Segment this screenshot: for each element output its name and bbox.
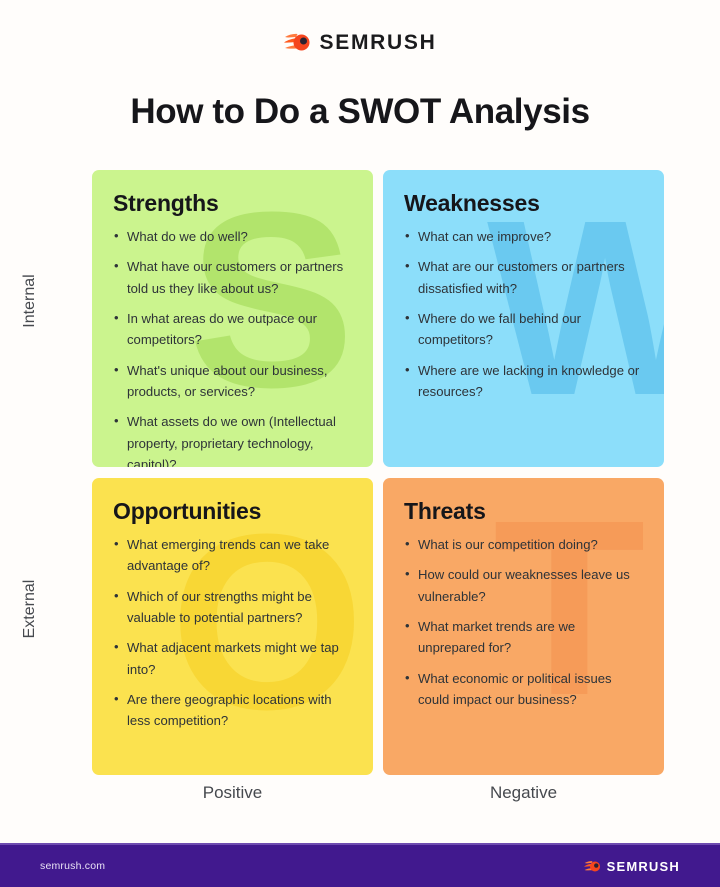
quadrant-list-opportunities: What emerging trends can we take advanta… xyxy=(113,534,351,732)
axis-label-external: External xyxy=(21,579,39,639)
swot-matrix: S Strengths What do we do well? What hav… xyxy=(92,170,664,775)
quadrant-strengths: S Strengths What do we do well? What hav… xyxy=(92,170,373,467)
semrush-wordmark: SEMRUSH xyxy=(320,32,437,53)
list-item: Which of our strengths might be valuable… xyxy=(113,586,351,629)
list-item: In what areas do we outpace our competit… xyxy=(113,308,351,351)
footer-website-url[interactable]: semrush.com xyxy=(40,860,105,872)
semrush-comet-icon xyxy=(584,859,601,874)
list-item: What are our customers or partners dissa… xyxy=(404,256,642,299)
axis-label-internal: Internal xyxy=(21,271,39,331)
quadrant-threats: T Threats What is our competition doing?… xyxy=(383,478,664,775)
list-item: Where are we lacking in knowledge or res… xyxy=(404,360,642,403)
list-item: How could our weaknesses leave us vulner… xyxy=(404,564,642,607)
semrush-logo-footer: SEMRUSH xyxy=(584,859,680,874)
axis-label-negative: Negative xyxy=(383,783,664,803)
quadrant-list-strengths: What do we do well? What have our custom… xyxy=(113,226,351,467)
quadrant-list-threats: What is our competition doing? How could… xyxy=(404,534,642,710)
quadrant-heading-threats: Threats xyxy=(404,498,642,525)
semrush-comet-icon xyxy=(284,31,311,54)
list-item: What do we do well? xyxy=(113,226,351,247)
list-item: What have our customers or partners told… xyxy=(113,256,351,299)
list-item: What assets do we own (Intellectual prop… xyxy=(113,411,351,467)
list-item: What's unique about our business, produc… xyxy=(113,360,351,403)
semrush-logo-header: SEMRUSH xyxy=(284,31,437,54)
list-item: What can we improve? xyxy=(404,226,642,247)
footer-bar: semrush.com SEMRUSH xyxy=(0,843,720,887)
axis-label-positive: Positive xyxy=(92,783,373,803)
quadrant-list-weaknesses: What can we improve? What are our custom… xyxy=(404,226,642,402)
list-item: What is our competition doing? xyxy=(404,534,642,555)
quadrant-heading-strengths: Strengths xyxy=(113,190,351,217)
list-item: Where do we fall behind our competitors? xyxy=(404,308,642,351)
page-title: How to Do a SWOT Analysis xyxy=(0,92,720,132)
list-item: What market trends are we unprepared for… xyxy=(404,616,642,659)
semrush-wordmark: SEMRUSH xyxy=(607,859,680,874)
quadrant-heading-opportunities: Opportunities xyxy=(113,498,351,525)
quadrant-weaknesses: W Weaknesses What can we improve? What a… xyxy=(383,170,664,467)
infographic-page: SEMRUSH How to Do a SWOT Analysis Intern… xyxy=(0,0,720,887)
quadrant-heading-weaknesses: Weaknesses xyxy=(404,190,642,217)
header: SEMRUSH xyxy=(0,31,720,54)
list-item: What emerging trends can we take advanta… xyxy=(113,534,351,577)
quadrant-opportunities: O Opportunities What emerging trends can… xyxy=(92,478,373,775)
list-item: Are there geographic locations with less… xyxy=(113,689,351,732)
list-item: What economic or political issues could … xyxy=(404,668,642,711)
list-item: What adjacent markets might we tap into? xyxy=(113,637,351,680)
